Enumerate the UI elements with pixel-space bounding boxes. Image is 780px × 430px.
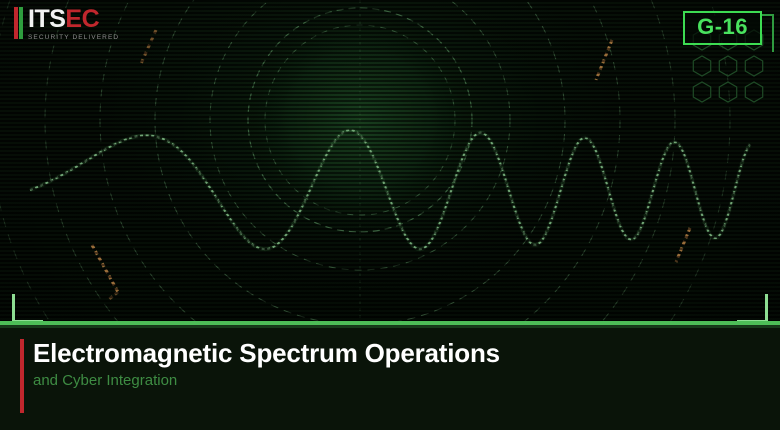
hex-cell — [745, 82, 762, 102]
logo-word-accent: EC — [65, 5, 99, 33]
hex-cell — [745, 56, 762, 76]
brand-logo: ITSEC SECURITY DELIVERED — [14, 6, 119, 41]
hex-cell — [693, 56, 710, 76]
corner-bracket-bottom-left — [12, 294, 43, 323]
hex-cell — [719, 56, 736, 76]
logo-bars-icon — [14, 7, 23, 39]
footer-panel: Electromagnetic Spectrum Operations and … — [0, 328, 780, 430]
corner-bracket-bottom-right — [737, 294, 768, 323]
amber-streak-left-b — [108, 292, 118, 300]
logo-bar-green — [19, 7, 23, 39]
slide-root: ITSEC SECURITY DELIVERED G-16 Electromag… — [0, 0, 780, 430]
hex-cell — [693, 82, 710, 102]
page-title: Electromagnetic Spectrum Operations — [33, 338, 500, 369]
amber-streak-bottomright — [676, 228, 690, 262]
status-badge: G-16 — [683, 11, 762, 45]
logo-bar-red — [14, 7, 18, 39]
badge-corner-tick-icon — [760, 14, 774, 52]
amber-streak-topright — [596, 40, 612, 80]
hex-cell — [719, 82, 736, 102]
logo-tagline: SECURITY DELIVERED — [28, 34, 119, 41]
divider-line — [0, 321, 780, 325]
amber-streak-upper-left — [140, 30, 156, 66]
logo-wordmark: ITSEC — [28, 6, 119, 33]
logo-word-primary: ITS — [28, 5, 65, 33]
page-subtitle: and Cyber Integration — [33, 372, 177, 389]
logo-text: ITSEC SECURITY DELIVERED — [28, 6, 119, 41]
amber-streak-left — [92, 245, 118, 292]
title-accent-bar — [20, 339, 24, 413]
